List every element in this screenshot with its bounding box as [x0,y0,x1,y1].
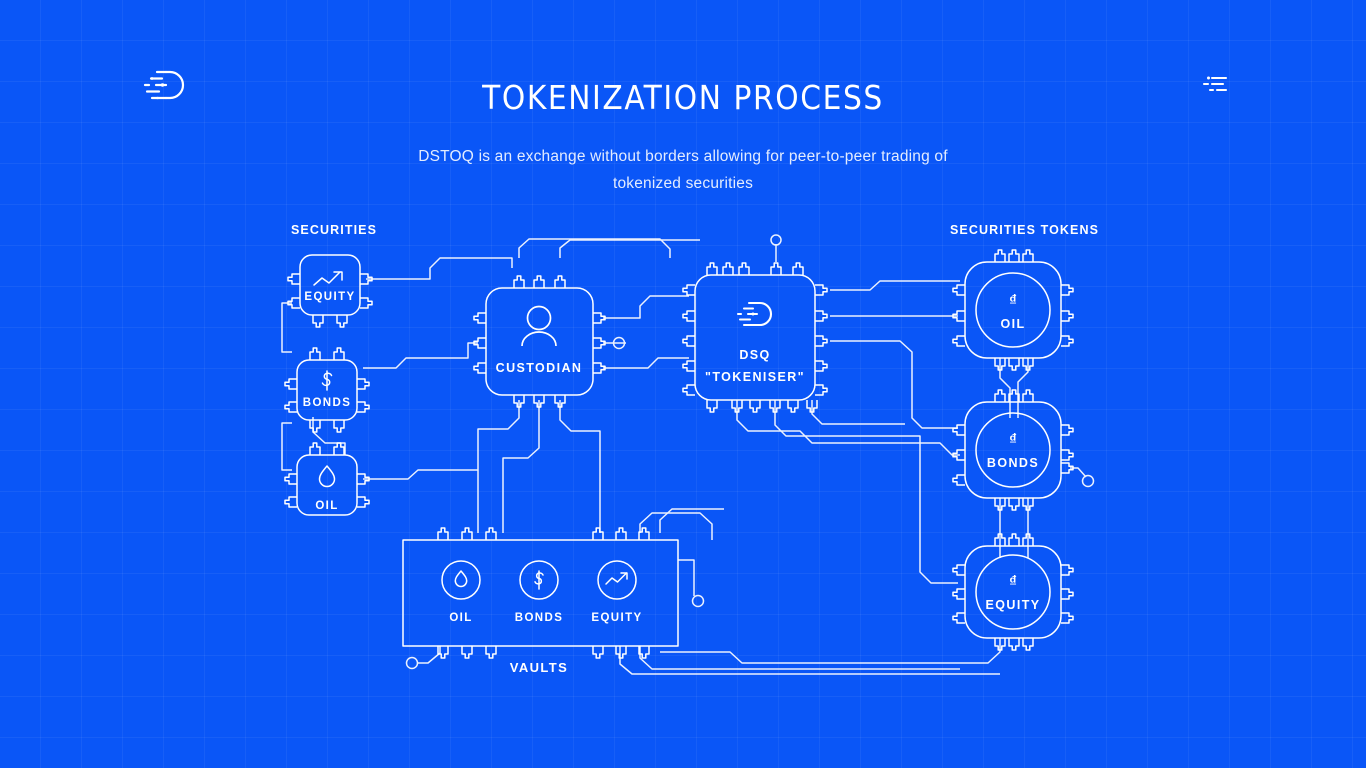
vault-label-bonds: BONDS [515,612,564,624]
chip-bonds [285,348,369,432]
oil-droplet-icon [320,466,335,487]
chip-label-custodian: CUSTODIAN [496,361,583,375]
chip-label-tokeniser-line2: "TOKENISER" [705,370,805,384]
token-label-oil: OIL [1000,317,1025,331]
chip-token-oil [953,250,1073,370]
token-label-bonds: BONDS [987,456,1039,470]
vault-label-equity: EQUITY [591,612,642,624]
token-symbol-bonds: ₫ [1009,431,1017,448]
vaults-box [403,528,678,658]
chip-custodian [474,276,605,407]
token-symbol-equity: ₫ [1009,573,1017,590]
dollar-sign-icon [535,571,543,589]
chip-token-bonds [953,390,1073,510]
chip-label-tokeniser-line1: DSQ [739,348,770,362]
trend-arrow-up-icon [606,573,627,584]
tokenization-circuit-diagram: EQUITY BONDS OIL CUSTODIAN DSQ "TOKENISE… [0,0,1366,768]
token-symbol-oil: ₫ [1009,292,1017,309]
person-icon [522,307,556,347]
token-label-equity: EQUITY [986,598,1041,612]
vault-label-oil: OIL [449,612,472,624]
dollar-sign-icon [323,371,332,390]
vaults-caption: VAULTS [510,660,568,675]
chip-label-oil: OIL [315,500,338,512]
trend-arrow-up-icon [314,272,342,285]
chip-label-bonds: BONDS [303,397,352,409]
chip-tokeniser [683,263,827,412]
chip-label-equity: EQUITY [304,291,355,303]
chip-token-equity [953,534,1073,650]
oil-droplet-icon [455,571,466,587]
